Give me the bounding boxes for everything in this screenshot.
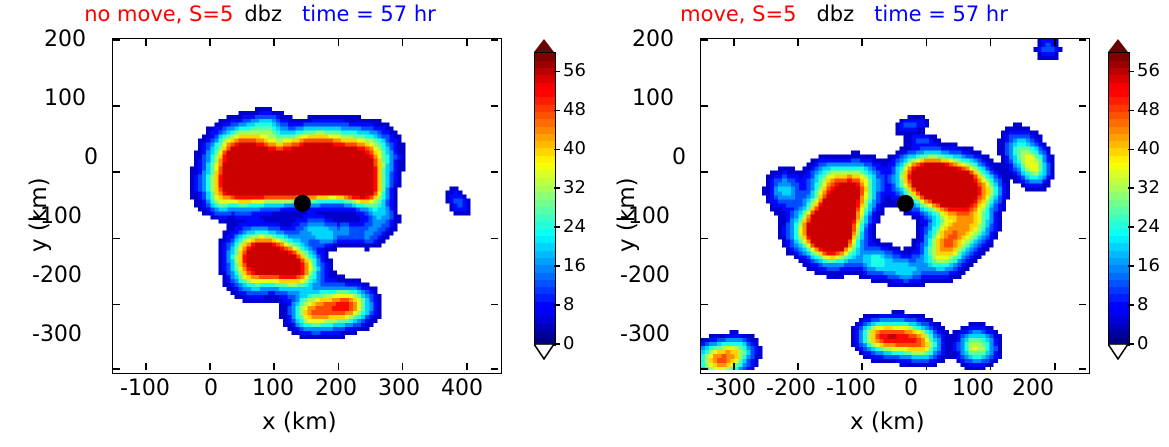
colorbar-segment bbox=[535, 141, 555, 149]
colorbar-tick bbox=[1128, 343, 1134, 345]
axis-tick bbox=[701, 39, 708, 41]
colorbar-segment bbox=[535, 301, 555, 309]
axis-tick bbox=[273, 39, 275, 46]
axis-tick bbox=[861, 363, 863, 370]
colorbar-segment bbox=[535, 279, 555, 287]
colorbar-tick-label: 56 bbox=[1137, 62, 1160, 80]
reflectivity-field-no-move bbox=[113, 39, 498, 370]
colorbar-segment bbox=[1109, 90, 1129, 98]
colorbar-segment bbox=[1109, 250, 1129, 258]
axis-tick bbox=[113, 238, 120, 240]
colorbar-tick bbox=[554, 265, 560, 267]
xtick-label: 0 bbox=[904, 378, 918, 400]
ytick-label: 100 bbox=[632, 88, 674, 110]
colorbar-segment bbox=[1109, 111, 1129, 119]
colorbar-segment bbox=[535, 170, 555, 178]
colorbar-tick bbox=[554, 304, 560, 306]
axis-tick bbox=[1054, 39, 1056, 46]
axis-tick bbox=[1054, 363, 1056, 370]
colorbar-segment bbox=[535, 272, 555, 280]
colorbar-segment bbox=[535, 221, 555, 229]
colorbar-segment bbox=[1109, 214, 1129, 222]
ytick-label: 0 bbox=[672, 147, 686, 169]
colorbar-segment bbox=[1109, 236, 1129, 244]
colorbar-tick-label: 32 bbox=[1137, 179, 1160, 197]
colorbar-tick bbox=[554, 187, 560, 189]
colorbar-segment bbox=[535, 155, 555, 163]
colorbar-segment bbox=[1109, 265, 1129, 273]
colorbar-segment bbox=[1109, 82, 1129, 90]
ytick-label: 0 bbox=[84, 147, 98, 169]
axis-tick bbox=[466, 39, 468, 46]
axis-tick bbox=[113, 368, 120, 370]
colorbar-segment bbox=[535, 177, 555, 185]
axis-tick bbox=[1079, 238, 1086, 240]
axis-tick bbox=[113, 105, 120, 107]
colorbar-tick bbox=[1128, 71, 1134, 73]
colorbar-segment bbox=[1109, 301, 1129, 309]
colorbar-segment bbox=[535, 148, 555, 156]
axis-tick bbox=[797, 39, 799, 46]
colorbar-segment bbox=[1109, 294, 1129, 302]
colorbar-segment bbox=[535, 184, 555, 192]
xtick-label: 0 bbox=[204, 378, 218, 400]
colorbar-tick-label: 40 bbox=[1137, 140, 1160, 158]
axis-tick bbox=[491, 171, 498, 173]
colorbar-segment bbox=[535, 294, 555, 302]
axis-tick bbox=[1079, 368, 1086, 370]
colorbar-tick-label: 24 bbox=[1137, 218, 1160, 236]
colorbar-segment bbox=[535, 206, 555, 214]
axis-tick bbox=[733, 363, 735, 370]
colorbar-over-arrow bbox=[534, 39, 554, 52]
axis-tick bbox=[990, 39, 992, 46]
colorbar-tick bbox=[1128, 226, 1134, 228]
colorbar-tick bbox=[554, 149, 560, 151]
colorbar-segment bbox=[1109, 148, 1129, 156]
colorbar-segment bbox=[535, 111, 555, 119]
axis-tick bbox=[1079, 105, 1086, 107]
y-axis-label: y (km) bbox=[614, 177, 640, 252]
colorbar-segment bbox=[1109, 68, 1129, 76]
colorbar-segment bbox=[535, 82, 555, 90]
colorbar-segment bbox=[1109, 228, 1129, 236]
colorbar-segment bbox=[1109, 257, 1129, 265]
title-time-label: time = 57 hr bbox=[874, 2, 1008, 26]
colorbar-segment bbox=[1109, 75, 1129, 83]
colorbar-tick-label: 48 bbox=[1137, 101, 1160, 119]
title-run-label: no move, S=5 bbox=[84, 2, 233, 26]
colorbar-segment bbox=[1109, 323, 1129, 331]
xtick-label: 200 bbox=[315, 378, 357, 400]
axis-tick bbox=[209, 39, 211, 46]
axis-tick bbox=[990, 363, 992, 370]
colorbar-segment bbox=[535, 330, 555, 338]
axis-tick bbox=[113, 171, 120, 173]
colorbar-segment bbox=[535, 90, 555, 98]
colorbar-segment bbox=[535, 192, 555, 200]
colorbar-segment bbox=[535, 163, 555, 171]
colorbar-tick-label: 0 bbox=[563, 335, 574, 353]
colorbar-segment bbox=[535, 257, 555, 265]
colorbar-segment bbox=[1109, 221, 1129, 229]
axis-tick bbox=[701, 304, 708, 306]
colorbar-tick-label: 16 bbox=[1137, 257, 1160, 275]
axis-tick bbox=[466, 363, 468, 370]
colorbar-segment bbox=[1109, 163, 1129, 171]
colorbar-segment bbox=[535, 119, 555, 127]
xtick-label: 300 bbox=[378, 378, 420, 400]
axis-tick bbox=[491, 39, 498, 41]
x-axis-label: x (km) bbox=[850, 409, 925, 435]
axis-tick bbox=[1079, 39, 1086, 41]
axis-tick bbox=[1079, 304, 1086, 306]
panel-move: move, S=5dbztime = 57 hr 200 100 0 -100 … bbox=[584, 0, 1168, 447]
plot-area-no-move bbox=[112, 38, 502, 374]
axis-tick bbox=[338, 39, 340, 46]
colorbar-tick-label: 40 bbox=[563, 140, 586, 158]
axis-tick bbox=[402, 363, 404, 370]
colorbar-segment bbox=[535, 53, 555, 61]
colorbar-segment bbox=[535, 214, 555, 222]
xtick-label: 100 bbox=[952, 378, 994, 400]
colorbar-tick bbox=[1128, 110, 1134, 112]
panel-title-right: move, S=5dbztime = 57 hr bbox=[584, 2, 1104, 26]
colorbar-tick bbox=[1128, 149, 1134, 151]
colorbar-segment bbox=[535, 309, 555, 317]
colorbar-tick bbox=[554, 71, 560, 73]
colorbar-segment bbox=[1109, 272, 1129, 280]
colorbar-tick-label: 32 bbox=[563, 179, 586, 197]
colorbar-segment bbox=[535, 104, 555, 112]
ytick-label: -200 bbox=[620, 265, 670, 287]
colorbar-segment bbox=[1109, 126, 1129, 134]
colorbar-segment bbox=[535, 236, 555, 244]
colorbar-segment bbox=[1109, 155, 1129, 163]
y-axis-label: y (km) bbox=[26, 177, 52, 252]
colorbar-gradient bbox=[534, 52, 556, 346]
ytick-label: -300 bbox=[620, 324, 670, 346]
axis-tick bbox=[491, 105, 498, 107]
colorbar-tick bbox=[554, 110, 560, 112]
axis-tick bbox=[338, 363, 340, 370]
axis-tick bbox=[861, 39, 863, 46]
colorbar-segment bbox=[535, 60, 555, 68]
ytick-label: 200 bbox=[44, 29, 86, 51]
title-variable-label: dbz bbox=[244, 2, 282, 26]
colorbar-segment bbox=[1109, 243, 1129, 251]
reflectivity-field-move bbox=[701, 39, 1086, 370]
xtick-label: -100 bbox=[120, 378, 170, 400]
colorbar-under-arrow bbox=[534, 344, 554, 360]
title-time-label: time = 57 hr bbox=[302, 2, 436, 26]
axis-tick bbox=[145, 363, 147, 370]
colorbar-segment bbox=[1109, 330, 1129, 338]
colorbar-segment bbox=[1109, 60, 1129, 68]
axis-tick bbox=[701, 368, 708, 370]
colorbar-segment bbox=[1109, 206, 1129, 214]
colorbar-tick bbox=[1128, 187, 1134, 189]
axis-tick bbox=[701, 171, 708, 173]
axis-tick bbox=[491, 304, 498, 306]
colorbar-segment bbox=[535, 323, 555, 331]
axis-tick bbox=[926, 363, 928, 370]
axis-tick bbox=[491, 238, 498, 240]
axis-tick bbox=[145, 39, 147, 46]
colorbar-tick-label: 0 bbox=[1137, 335, 1148, 353]
xtick-label: -300 bbox=[706, 378, 756, 400]
colorbar-segment bbox=[535, 126, 555, 134]
colorbar-tick-label: 16 bbox=[563, 257, 586, 275]
xtick-label: -100 bbox=[826, 378, 876, 400]
colorbar-segment bbox=[535, 133, 555, 141]
colorbar-segment bbox=[1109, 316, 1129, 324]
x-axis-label: x (km) bbox=[262, 409, 337, 435]
ytick-label: 100 bbox=[44, 88, 86, 110]
colorbar-segment bbox=[1109, 199, 1129, 207]
xtick-label: 100 bbox=[252, 378, 294, 400]
colorbar-segment bbox=[1109, 309, 1129, 317]
colorbar-segment bbox=[1109, 177, 1129, 185]
axis-tick bbox=[701, 238, 708, 240]
axis-tick bbox=[733, 39, 735, 46]
axis-tick bbox=[209, 363, 211, 370]
colorbar-segment bbox=[1109, 119, 1129, 127]
axis-tick bbox=[1079, 171, 1086, 173]
ytick-label: -300 bbox=[32, 324, 82, 346]
colorbar-segment bbox=[1109, 287, 1129, 295]
axis-tick bbox=[701, 105, 708, 107]
colorbar-segment bbox=[535, 250, 555, 258]
storm-center-marker bbox=[897, 195, 914, 212]
axis-tick bbox=[491, 368, 498, 370]
colorbar-segment bbox=[1109, 133, 1129, 141]
colorbar-tick bbox=[1128, 304, 1134, 306]
colorbar-tick bbox=[554, 343, 560, 345]
colorbar-segment bbox=[535, 68, 555, 76]
colorbar-segment bbox=[535, 243, 555, 251]
colorbar-segment bbox=[535, 287, 555, 295]
axis-tick bbox=[797, 363, 799, 370]
plot-area-move bbox=[700, 38, 1090, 374]
panel-no-move: no move, S=5dbztime = 57 hr 200 100 0 -1… bbox=[0, 0, 584, 447]
xtick-label: -200 bbox=[766, 378, 816, 400]
title-run-label: move, S=5 bbox=[680, 2, 796, 26]
colorbar-left: 08162432404856 bbox=[530, 38, 584, 372]
colorbar-segment bbox=[1109, 279, 1129, 287]
axis-tick bbox=[273, 363, 275, 370]
ytick-label: -200 bbox=[32, 265, 82, 287]
axis-tick bbox=[926, 39, 928, 46]
colorbar-right: 08162432404856 bbox=[1104, 38, 1158, 372]
colorbar-tick-label: 24 bbox=[563, 218, 586, 236]
colorbar-segment bbox=[1109, 192, 1129, 200]
colorbar-segment bbox=[1109, 53, 1129, 61]
colorbar-tick-label: 56 bbox=[563, 62, 586, 80]
colorbar-tick-label: 8 bbox=[563, 296, 574, 314]
colorbar-tick-label: 8 bbox=[1137, 296, 1148, 314]
colorbar-segment bbox=[535, 97, 555, 105]
colorbar-segment bbox=[1109, 170, 1129, 178]
contour-fill-group bbox=[190, 107, 471, 339]
colorbar-segment bbox=[1109, 141, 1129, 149]
colorbar-segment bbox=[535, 265, 555, 273]
colorbar-over-arrow bbox=[1108, 39, 1128, 52]
colorbar-segment bbox=[535, 316, 555, 324]
colorbar-tick-label: 48 bbox=[563, 101, 586, 119]
colorbar-tick bbox=[1128, 265, 1134, 267]
colorbar-segment bbox=[535, 199, 555, 207]
xtick-label: 400 bbox=[441, 378, 483, 400]
panel-title-left: no move, S=5dbztime = 57 hr bbox=[0, 2, 520, 26]
colorbar-segment bbox=[1109, 97, 1129, 105]
title-variable-label: dbz bbox=[816, 2, 854, 26]
colorbar-under-arrow bbox=[1108, 344, 1128, 360]
ytick-label: 200 bbox=[632, 29, 674, 51]
axis-tick bbox=[113, 304, 120, 306]
axis-tick bbox=[113, 39, 120, 41]
colorbar-segment bbox=[535, 228, 555, 236]
colorbar-segment bbox=[1109, 184, 1129, 192]
contour-fill-group bbox=[701, 39, 1063, 370]
storm-center-marker bbox=[294, 195, 311, 212]
colorbar-segment bbox=[535, 75, 555, 83]
colorbar-tick bbox=[554, 226, 560, 228]
colorbar-gradient bbox=[1108, 52, 1130, 346]
axis-tick bbox=[402, 39, 404, 46]
xtick-label: 200 bbox=[1012, 378, 1054, 400]
colorbar-segment bbox=[1109, 104, 1129, 112]
